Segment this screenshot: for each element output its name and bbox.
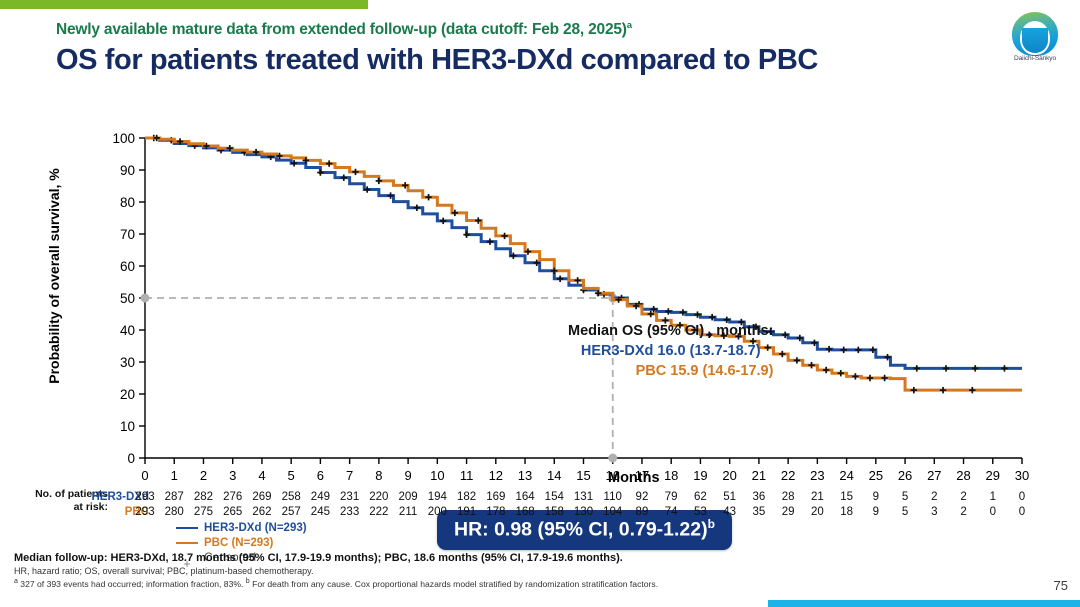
svg-text:29: 29 — [986, 468, 1000, 483]
risk-cell: 209 — [395, 491, 421, 503]
svg-text:20: 20 — [120, 387, 135, 402]
risk-cell: 28 — [775, 491, 801, 503]
risk-cell: 104 — [600, 506, 626, 518]
footnote-references: a 327 of 393 events had occurred; inform… — [14, 578, 658, 589]
svg-text:5: 5 — [288, 468, 295, 483]
risk-cell: 20 — [804, 506, 830, 518]
svg-text:11: 11 — [460, 468, 474, 483]
svg-text:40: 40 — [120, 323, 135, 338]
svg-text:25: 25 — [869, 468, 883, 483]
svg-text:4: 4 — [258, 468, 265, 483]
risk-cell: 2 — [921, 491, 947, 503]
svg-text:18: 18 — [664, 468, 678, 483]
risk-cell: 191 — [454, 506, 480, 518]
risk-cell: 2 — [951, 491, 977, 503]
svg-text:30: 30 — [1015, 468, 1029, 483]
svg-text:6: 6 — [317, 468, 324, 483]
risk-cell: 265 — [220, 506, 246, 518]
risk-cell: 182 — [454, 491, 480, 503]
page-title: OS for patients treated with HER3-DXd co… — [56, 44, 1016, 77]
median-os-pbc: PBC 15.9 (14.6-17.9) — [568, 361, 773, 381]
risk-cell: 53 — [687, 506, 713, 518]
risk-cell: 130 — [571, 506, 597, 518]
svg-text:13: 13 — [518, 468, 532, 483]
risk-cell: 21 — [804, 491, 830, 503]
svg-text:12: 12 — [489, 468, 503, 483]
risk-cell: 293 — [132, 491, 158, 503]
risk-cell: 287 — [161, 491, 187, 503]
risk-cell: 29 — [775, 506, 801, 518]
risk-cell: 2 — [951, 506, 977, 518]
svg-text:60: 60 — [120, 259, 135, 274]
risk-cell: 5 — [892, 506, 918, 518]
risk-cell: 62 — [687, 491, 713, 503]
risk-cell: 9 — [863, 506, 889, 518]
svg-text:28: 28 — [956, 468, 970, 483]
svg-text:24: 24 — [839, 468, 853, 483]
svg-text:8: 8 — [375, 468, 382, 483]
slide-root: Newly available mature data from extende… — [0, 0, 1080, 607]
svg-text:100: 100 — [112, 131, 135, 146]
risk-cell: 257 — [278, 506, 304, 518]
plot-svg: 0102030405060708090100012345678910111213… — [0, 118, 1080, 498]
svg-text:90: 90 — [120, 163, 135, 178]
median-os-annotation: Median OS (95% CI) , months: HER3-DXd 16… — [568, 321, 773, 381]
svg-text:22: 22 — [781, 468, 795, 483]
risk-cell: 275 — [190, 506, 216, 518]
svg-text:15: 15 — [576, 468, 590, 483]
risk-cell: 233 — [337, 506, 363, 518]
kaplan-meier-chart: 0102030405060708090100012345678910111213… — [0, 118, 1080, 498]
footnote-a-text: 327 of 393 events had occurred; informat… — [18, 579, 246, 589]
svg-text:80: 80 — [120, 195, 135, 210]
risk-cell: 131 — [571, 491, 597, 503]
risk-cell: 258 — [278, 491, 304, 503]
risk-cell: 0 — [980, 506, 1006, 518]
median-os-her3: HER3-DXd 16.0 (13.7-18.7) — [568, 341, 773, 361]
risk-cell: 43 — [717, 506, 743, 518]
svg-text:10: 10 — [430, 468, 444, 483]
svg-text:0: 0 — [127, 451, 135, 466]
svg-text:14: 14 — [547, 468, 561, 483]
risk-cell: 158 — [541, 506, 567, 518]
risk-cell: 89 — [629, 506, 655, 518]
risk-cell: 92 — [629, 491, 655, 503]
risk-cell: 15 — [834, 491, 860, 503]
risk-cell: 9 — [863, 491, 889, 503]
risk-cell: 36 — [746, 491, 772, 503]
slide-eyebrow-text: Newly available mature data from extende… — [56, 21, 627, 38]
svg-text:27: 27 — [927, 468, 941, 483]
svg-text:3: 3 — [229, 468, 236, 483]
svg-text:23: 23 — [810, 468, 824, 483]
risk-cell: 249 — [307, 491, 333, 503]
svg-text:70: 70 — [120, 227, 135, 242]
logo-wordmark: Daiichi-Sankyo — [1004, 55, 1066, 62]
risk-cell: 262 — [249, 506, 275, 518]
risk-cell: 269 — [249, 491, 275, 503]
risk-cell: 168 — [512, 506, 538, 518]
risk-cell: 220 — [366, 491, 392, 503]
svg-text:0: 0 — [141, 468, 148, 483]
risk-cell: 169 — [483, 491, 509, 503]
slide-eyebrow-superscript: a — [627, 20, 632, 31]
risk-cell: 245 — [307, 506, 333, 518]
svg-text:26: 26 — [898, 468, 912, 483]
logo-mark-inner — [1022, 28, 1048, 53]
svg-text:50: 50 — [120, 291, 135, 306]
risk-cell: 3 — [921, 506, 947, 518]
risk-cell: 200 — [424, 506, 450, 518]
footnote-b-text: For death from any cause. Cox proportion… — [250, 579, 658, 589]
footnote-abbreviations: HR, hazard ratio; OS, overall survival; … — [14, 566, 313, 576]
svg-text:10: 10 — [120, 419, 135, 434]
top-accent-bar — [0, 0, 368, 9]
svg-text:21: 21 — [752, 468, 766, 483]
risk-cell: 51 — [717, 491, 743, 503]
svg-text:9: 9 — [404, 468, 411, 483]
svg-text:20: 20 — [722, 468, 736, 483]
bottom-accent-bar — [768, 600, 1080, 607]
risk-cell: 164 — [512, 491, 538, 503]
risk-cell: 110 — [600, 491, 626, 503]
risk-cell: 5 — [892, 491, 918, 503]
risk-cell: 276 — [220, 491, 246, 503]
risk-cell: 222 — [366, 506, 392, 518]
risk-cell: 280 — [161, 506, 187, 518]
median-os-header: Median OS (95% CI) , months: — [568, 321, 773, 341]
risk-cell: 0 — [1009, 491, 1035, 503]
risk-cell: 178 — [483, 506, 509, 518]
daiichi-sankyo-logo: Daiichi-Sankyo — [1004, 12, 1066, 70]
svg-text:19: 19 — [693, 468, 707, 483]
svg-text:30: 30 — [120, 355, 135, 370]
y-axis-label: Probability of overall survival, % — [46, 126, 62, 426]
page-number: 75 — [1054, 578, 1068, 593]
risk-cell: 0 — [1009, 506, 1035, 518]
footnote-median-followup: Median follow-up: HER3-DXd, 18.7 months … — [14, 552, 623, 564]
risk-cell: 154 — [541, 491, 567, 503]
svg-text:7: 7 — [346, 468, 353, 483]
risk-cell: 282 — [190, 491, 216, 503]
svg-text:1: 1 — [171, 468, 178, 483]
risk-cell: 74 — [658, 506, 684, 518]
risk-cell: 1 — [980, 491, 1006, 503]
risk-cell: 35 — [746, 506, 772, 518]
risk-cell: 293 — [132, 506, 158, 518]
risk-cell: 194 — [424, 491, 450, 503]
risk-cell: 231 — [337, 491, 363, 503]
risk-cell: 18 — [834, 506, 860, 518]
x-axis-label: Months — [608, 470, 660, 486]
slide-eyebrow: Newly available mature data from extende… — [56, 20, 936, 39]
number-at-risk-table: No. of patients at risk: HER3-DXd PBC 29… — [0, 488, 1080, 538]
risk-cell: 79 — [658, 491, 684, 503]
risk-cell: 211 — [395, 506, 421, 518]
svg-text:2: 2 — [200, 468, 207, 483]
legend-swatch-pbc-icon — [176, 542, 198, 544]
